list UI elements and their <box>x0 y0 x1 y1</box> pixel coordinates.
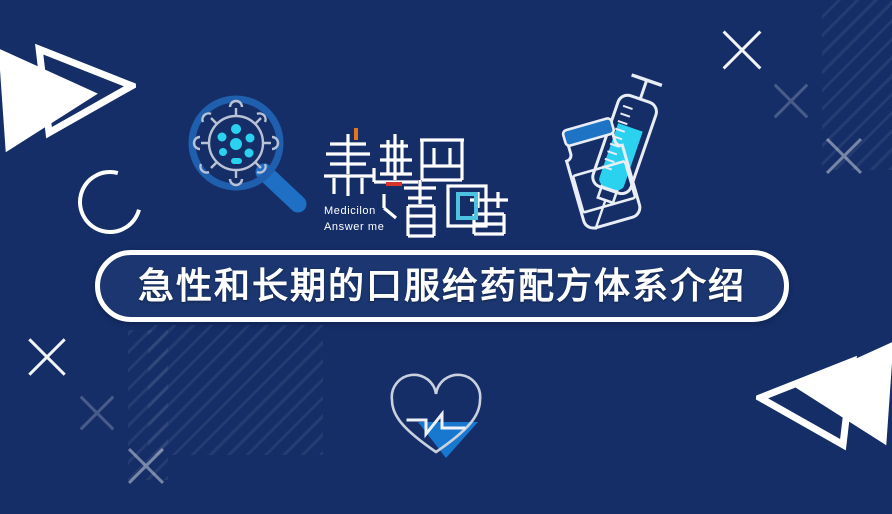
triangle-outline-top-left <box>33 37 139 140</box>
page-title: 急性和长期的口服给药配方体系介绍 <box>138 268 746 304</box>
logo-english-line-2: Answer me <box>324 221 384 233</box>
x-mark-icon <box>716 24 768 76</box>
diagonal-stripes-mid-left <box>148 325 323 455</box>
x-mark-icon <box>74 390 120 436</box>
open-circle-arc <box>66 158 153 245</box>
syringe-vial-icon <box>552 72 684 244</box>
promo-banner: Medicilon Answer me 急性和长期的口服给药配方体系介绍 <box>0 0 892 514</box>
medicilon-logo: Medicilon Answer me <box>322 118 522 242</box>
magnifier-virus-icon <box>178 88 308 216</box>
title-banner: 急性和长期的口服给药配方体系介绍 <box>95 250 789 322</box>
triangle-outline-bottom-right <box>753 349 859 452</box>
x-mark-icon <box>768 78 814 124</box>
diagonal-stripes-bottom-left <box>128 330 168 480</box>
x-mark-icon <box>820 132 868 180</box>
x-mark-icon <box>122 442 170 490</box>
x-mark-icon <box>22 332 72 382</box>
diagonal-stripes-top-right <box>822 0 892 170</box>
heart-pulse-icon <box>386 372 486 458</box>
logo-english-line-1: Medicilon <box>324 205 376 217</box>
